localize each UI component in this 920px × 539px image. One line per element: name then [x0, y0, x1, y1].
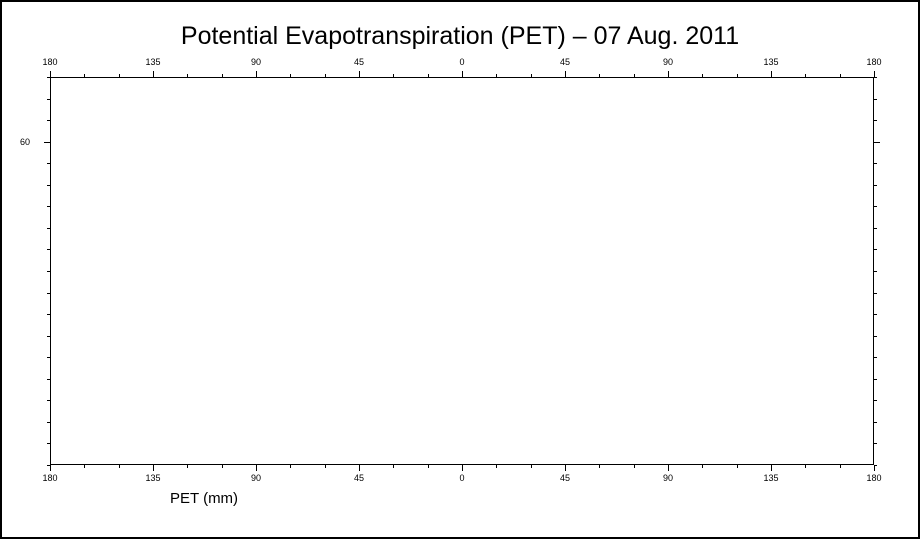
axis-tick	[874, 422, 877, 423]
x-axis-label: 135	[763, 473, 778, 483]
axis-tick	[771, 465, 772, 471]
axis-tick	[737, 465, 738, 468]
axis-tick	[222, 465, 223, 468]
pet-heatmap-canvas[interactable]	[50, 77, 874, 465]
legend-title: PET (mm)	[170, 490, 238, 507]
x-axis-label: 90	[251, 57, 261, 67]
axis-tick	[874, 99, 877, 100]
x-axis-label: 135	[145, 473, 160, 483]
axis-tick	[256, 71, 257, 77]
page-title: Potential Evapotranspiration (PET) – 07 …	[2, 22, 918, 51]
axis-tick	[702, 465, 703, 468]
axis-tick	[325, 465, 326, 468]
axis-tick	[634, 465, 635, 468]
axis-tick	[428, 74, 429, 77]
figure-root: Potential Evapotranspiration (PET) – 07 …	[0, 0, 920, 539]
axis-tick	[531, 74, 532, 77]
axis-tick	[153, 71, 154, 77]
axis-tick	[50, 71, 51, 77]
axis-tick	[874, 77, 877, 78]
axis-tick	[840, 465, 841, 468]
axis-tick	[47, 422, 50, 423]
axis-tick	[50, 465, 51, 471]
axis-tick	[496, 465, 497, 468]
axis-tick	[119, 465, 120, 468]
axis-tick	[47, 379, 50, 380]
axis-tick	[840, 74, 841, 77]
axis-tick	[359, 71, 360, 77]
axis-tick	[599, 74, 600, 77]
axis-tick	[47, 314, 50, 315]
axis-tick	[874, 336, 877, 337]
axis-tick	[84, 465, 85, 468]
axis-tick	[44, 142, 50, 143]
axis-tick	[47, 99, 50, 100]
axis-tick	[290, 465, 291, 468]
axis-tick	[874, 379, 877, 380]
x-axis-label: 45	[354, 57, 364, 67]
axis-tick	[874, 465, 877, 466]
axis-tick	[47, 443, 50, 444]
axis-tick	[47, 228, 50, 229]
x-axis-label: 0	[459, 57, 464, 67]
axis-tick	[47, 336, 50, 337]
axis-tick	[290, 74, 291, 77]
x-axis-label: 135	[763, 57, 778, 67]
axis-tick	[187, 465, 188, 468]
axis-tick	[47, 357, 50, 358]
x-axis-label: 45	[354, 473, 364, 483]
axis-tick	[47, 206, 50, 207]
axis-tick	[47, 293, 50, 294]
x-axis-label: 90	[251, 473, 261, 483]
axis-tick	[565, 465, 566, 471]
map-plot-area[interactable]	[50, 77, 874, 465]
axis-tick	[222, 74, 223, 77]
axis-tick	[874, 357, 877, 358]
x-axis-label: 45	[560, 57, 570, 67]
x-axis-label: 45	[560, 473, 570, 483]
axis-tick	[874, 206, 877, 207]
axis-tick	[47, 77, 50, 78]
axis-tick	[359, 465, 360, 471]
axis-tick	[874, 142, 880, 143]
axis-tick	[47, 400, 50, 401]
x-axis-label: 0	[459, 473, 464, 483]
axis-tick	[874, 314, 877, 315]
axis-tick	[428, 465, 429, 468]
axis-tick	[874, 293, 877, 294]
axis-tick	[874, 120, 877, 121]
axis-tick	[874, 228, 877, 229]
x-axis-label: 90	[663, 473, 673, 483]
axis-tick	[325, 74, 326, 77]
x-axis-label: 180	[866, 473, 881, 483]
axis-tick	[393, 74, 394, 77]
axis-tick	[874, 271, 877, 272]
axis-tick	[805, 465, 806, 468]
axis-tick	[256, 465, 257, 471]
axis-tick	[668, 71, 669, 77]
axis-tick	[805, 74, 806, 77]
axis-tick	[874, 163, 877, 164]
axis-tick	[668, 465, 669, 471]
axis-tick	[47, 465, 50, 466]
axis-tick	[47, 249, 50, 250]
axis-tick	[496, 74, 497, 77]
axis-tick	[47, 120, 50, 121]
axis-tick	[47, 185, 50, 186]
x-axis-label: 90	[663, 57, 673, 67]
x-axis-label: 135	[145, 57, 160, 67]
axis-tick	[565, 71, 566, 77]
axis-tick	[531, 465, 532, 468]
axis-tick	[874, 443, 877, 444]
axis-tick	[153, 465, 154, 471]
axis-tick	[771, 71, 772, 77]
axis-tick	[462, 465, 463, 471]
x-axis-label: 180	[866, 57, 881, 67]
axis-tick	[702, 74, 703, 77]
x-axis-label: 180	[42, 473, 57, 483]
axis-tick	[47, 163, 50, 164]
axis-tick	[393, 465, 394, 468]
x-axis-label: 180	[42, 57, 57, 67]
axis-tick	[47, 271, 50, 272]
axis-tick	[737, 74, 738, 77]
axis-tick	[874, 185, 877, 186]
axis-tick	[84, 74, 85, 77]
axis-tick	[634, 74, 635, 77]
axis-tick	[874, 400, 877, 401]
y-axis-label: 60	[20, 137, 30, 147]
legend: PET (mm)	[2, 484, 918, 524]
axis-tick	[462, 71, 463, 77]
axis-tick	[874, 249, 877, 250]
axis-tick	[599, 465, 600, 468]
axis-tick	[187, 74, 188, 77]
axis-tick	[119, 74, 120, 77]
